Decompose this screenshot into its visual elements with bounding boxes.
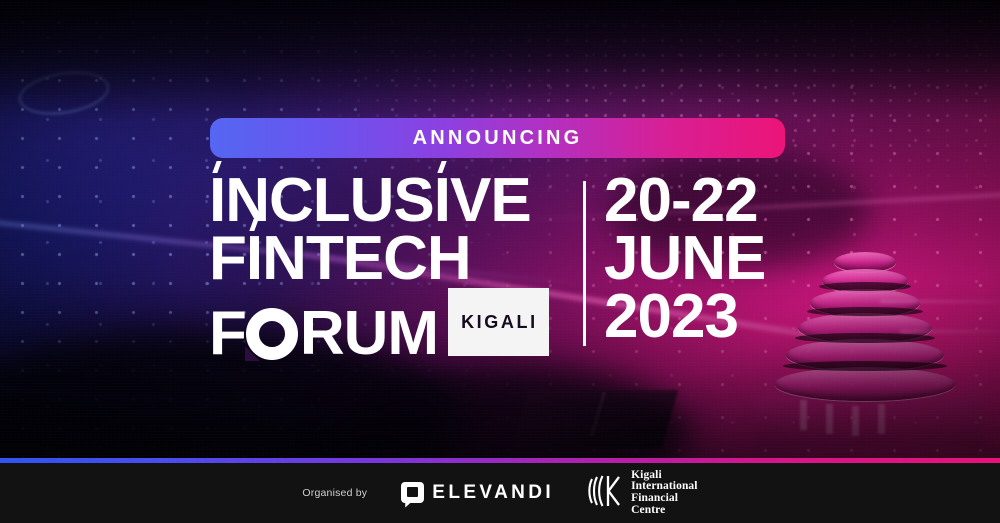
event-title: INCLUSIVE FINTECH F RUM KIGALI <box>209 172 569 363</box>
organised-by-label: Organised by <box>302 487 367 499</box>
kifc-line-3: Financial <box>631 493 697 505</box>
date-line-days: 20-22 <box>604 172 765 230</box>
event-date: 20-22 JUNE 2023 <box>604 172 765 346</box>
kifc-line-4: Centre <box>631 505 697 517</box>
title-line-inclusive: INCLUSIVE <box>209 172 569 230</box>
event-announcement-banner: ANNOUNCING INCLUSIVE FINTECH F RUM KIGAL… <box>0 0 1000 523</box>
title-line-fintech: FINTECH <box>209 230 569 288</box>
speech-bubble-icon <box>401 482 424 505</box>
title-date-divider <box>583 181 586 346</box>
footer-bar: Organised by ELEVANDI <box>0 463 1000 523</box>
announcing-label: ANNOUNCING <box>413 127 583 150</box>
date-line-year: 2023 <box>604 288 765 346</box>
elevandi-wordmark: ELEVANDI <box>432 482 554 504</box>
date-line-month: JUNE <box>604 230 765 288</box>
announcing-pill: ANNOUNCING <box>210 118 785 158</box>
kifc-wordmark: Kigali International Financial Centre <box>631 470 697 516</box>
kifc-logo: Kigali International Financial Centre <box>588 470 697 516</box>
stylized-o-icon <box>246 308 298 360</box>
kifc-arcs-icon <box>588 473 622 514</box>
kigali-badge: KIGALI <box>448 288 549 356</box>
title-line-forum: F RUM KIGALI <box>209 288 569 363</box>
elevandi-logo: ELEVANDI <box>401 482 554 505</box>
